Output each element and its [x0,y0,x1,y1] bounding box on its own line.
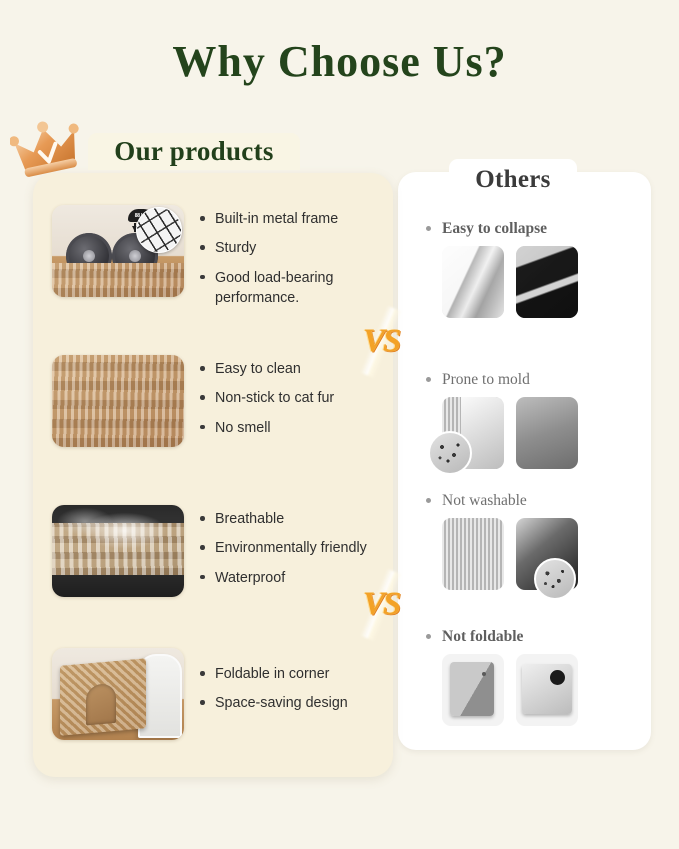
list-item: Good load-bearing performance. [198,268,382,309]
mold-stained-surface-photo [516,397,578,469]
crown-check-icon [10,118,90,180]
mold-spores-closeup-inset [428,431,472,475]
rigid-gray-box-photo [442,654,504,726]
list-item: Waterproof [198,568,367,588]
vs-label: VS [352,312,410,370]
others-item-label: Easy to collapse [424,220,639,238]
metal-frame-load-test-photo: 88 LB [52,205,184,297]
others-item-3: Not washable [424,492,639,590]
list-item: Easy to clean [198,359,334,379]
others-item-2: Prone to mold [424,371,639,469]
products-tab: Our products [88,133,300,170]
list-item: Built-in metal frame [198,209,382,229]
others-item-label: Not washable [424,492,639,510]
list-item: Environmentally friendly [198,538,367,558]
list-item: Breathable [198,509,367,529]
collapsed-dark-box-photo [516,246,578,318]
product-row-3: Breathable Environmentally friendly Wate… [52,505,382,597]
list-item: Space-saving design [198,693,348,713]
woven-rattan-closeup-photo [52,355,184,447]
vs-label: VS [352,575,410,633]
list-item: Foldable in corner [198,664,348,684]
product-row-2: Easy to clean Non-stick to cat fur No sm… [52,355,382,447]
others-item-label: Not foldable [424,628,639,646]
list-item: Non-stick to cat fur [198,388,334,408]
infographic-page: Why Choose Us? Others Our products [0,0,679,849]
collapsed-fabric-box-photo [442,246,504,318]
product-row-1: 88 LB Built-in metal frame Sturdy Good l… [52,205,382,317]
rigid-open-box-photo [516,654,578,726]
product-bullets-1: Built-in metal frame Sturdy Good load-be… [198,205,382,317]
page-title: Why Choose Us? [0,36,679,87]
product-bullets-2: Easy to clean Non-stick to cat fur No sm… [198,355,334,447]
product-bullets-3: Breathable Environmentally friendly Wate… [198,505,367,597]
others-item-label: Prone to mold [424,371,639,389]
metal-frame-inset-icon [136,207,182,253]
others-item-1: Easy to collapse [424,220,639,318]
others-tab-label: Others [475,166,550,194]
dirt-speck-closeup-inset [534,558,576,600]
products-tab-label: Our products [114,136,273,167]
others-tab: Others [449,159,577,201]
stained-fabric-liner-photo [442,518,504,590]
product-bullets-4: Foldable in corner Space-saving design [198,648,348,740]
list-item: No smell [198,418,334,438]
vs-badge-bottom: VS [352,575,410,633]
folded-flat-corner-photo [52,648,184,740]
vs-badge-top: VS [352,312,410,370]
product-row-4: Foldable in corner Space-saving design [52,648,382,740]
list-item: Sturdy [198,238,382,258]
others-item-4: Not foldable [424,628,639,726]
breathable-weave-smoke-photo [52,505,184,597]
